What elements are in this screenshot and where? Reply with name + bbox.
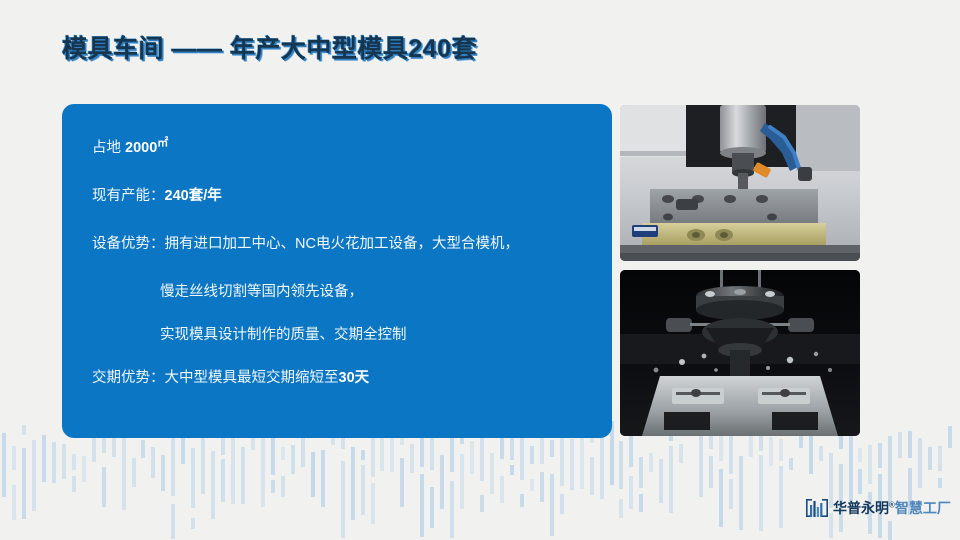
decorative-bar <box>629 431 633 467</box>
decorative-bar <box>918 438 922 488</box>
decorative-bar <box>510 465 514 475</box>
panel-line-area-prefix: 占地 <box>92 140 125 156</box>
bar-chart-logo-mark-icon <box>806 498 828 518</box>
decorative-bar <box>460 454 464 509</box>
panel-line-leadtime-prefix: 交期优势：大中型模具最短交期缩短至 <box>92 370 339 386</box>
decorative-bar <box>540 472 544 502</box>
decorative-bar <box>858 448 862 462</box>
page-title-text: 模具车间 —— 年产大中型模具240套 <box>62 29 477 65</box>
decorative-bar <box>400 458 404 507</box>
decorative-bar <box>560 494 564 514</box>
panel-line-capacity-value: 240套/年 <box>165 188 222 204</box>
decorative-bar <box>948 426 952 448</box>
decorative-bar <box>450 433 454 472</box>
decorative-bar <box>898 432 902 458</box>
brand-logo-text: 华普永明®智慧工厂 <box>833 501 951 515</box>
decorative-bar <box>301 433 305 467</box>
decorative-bar <box>42 435 46 482</box>
decorative-bar <box>151 447 155 478</box>
decorative-bar <box>639 494 643 512</box>
decorative-bar <box>540 437 544 464</box>
decorative-bar <box>500 476 504 503</box>
decorative-bar <box>550 474 554 536</box>
decorative-bar <box>321 450 325 507</box>
panel-line-equipment-cont2-text: 实现模具设计制作的质量、交期全控制 <box>160 327 407 343</box>
decorative-bar <box>231 431 235 504</box>
decorative-bar <box>590 457 594 495</box>
decorative-bar <box>171 504 175 539</box>
decorative-bar <box>72 476 76 492</box>
decorative-bar <box>809 430 813 474</box>
decorative-bar <box>52 442 56 483</box>
decorative-bar <box>380 434 384 471</box>
decorative-bar <box>390 435 394 472</box>
slide-canvas: 模具车间 —— 年产大中型模具240套 占地 2000㎡ 现有产能：240套/年… <box>0 0 960 540</box>
decorative-bar <box>789 458 793 470</box>
decorative-bar <box>709 456 713 488</box>
decorative-bar <box>191 448 195 508</box>
decorative-bar <box>22 448 26 519</box>
panel-line-area-value: 2000 <box>125 140 157 156</box>
decorative-bar <box>291 445 295 474</box>
decorative-bar <box>12 446 16 470</box>
decorative-bar <box>759 455 763 531</box>
photo-edm-spindle <box>620 270 860 436</box>
brand-logo: 华普永明®智慧工厂 <box>806 496 951 520</box>
decorative-bar <box>769 437 773 466</box>
decorative-bar <box>161 455 165 491</box>
decorative-bar-field <box>0 420 960 540</box>
panel-line-area: 占地 2000㎡ <box>92 138 586 159</box>
decorative-bar <box>102 467 106 507</box>
decorative-bar <box>619 441 623 489</box>
decorative-bar <box>819 446 823 461</box>
decorative-bar <box>430 487 434 528</box>
page-title: 模具车间 —— 年产大中型模具240套 <box>62 27 477 67</box>
panel-line-area-unit: ㎡ <box>157 137 168 149</box>
photo-edm-spindle-art <box>620 270 860 436</box>
decorative-bar <box>639 457 643 488</box>
decorative-bar <box>12 485 16 520</box>
decorative-bar <box>520 433 524 480</box>
decorative-bar <box>580 435 584 489</box>
decorative-bar <box>22 425 26 435</box>
decorative-bar <box>570 439 574 490</box>
decorative-bar <box>361 465 365 515</box>
decorative-bar <box>779 439 783 461</box>
decorative-bar <box>779 466 783 528</box>
panel-line-equipment: 设备优势：拥有进口加工中心、NC电火花加工设备，大型合模机， <box>92 234 586 255</box>
decorative-bar <box>490 453 494 494</box>
decorative-bar <box>530 479 534 491</box>
decorative-bar <box>729 479 733 509</box>
decorative-bar <box>849 428 853 501</box>
decorative-bar <box>928 447 932 470</box>
decorative-bar <box>271 480 275 493</box>
decorative-bar <box>908 431 912 458</box>
decorative-bar <box>520 494 524 507</box>
decorative-bar <box>938 478 942 488</box>
decorative-bar <box>679 444 683 463</box>
decorative-bar <box>410 444 414 473</box>
decorative-bar <box>560 430 564 486</box>
content-panel: 占地 2000㎡ 现有产能：240套/年 设备优势：拥有进口加工中心、NC电火花… <box>62 104 612 438</box>
decorative-bar <box>420 474 424 537</box>
decorative-bar <box>669 446 673 513</box>
decorative-bar <box>2 433 6 497</box>
decorative-bar <box>868 445 872 484</box>
decorative-bar <box>221 459 225 502</box>
decorative-bar <box>440 455 444 509</box>
decorative-bar <box>361 450 365 460</box>
decorative-bar <box>141 440 145 458</box>
decorative-bar <box>261 429 265 507</box>
panel-line-capacity-prefix: 现有产能： <box>92 188 165 204</box>
decorative-bar <box>649 453 653 472</box>
brand-logo-secondary: 智慧工厂 <box>895 500 951 516</box>
panel-line-leadtime: 交期优势：大中型模具最短交期缩短至30天 <box>92 368 586 389</box>
decorative-bar <box>281 447 285 460</box>
decorative-bar <box>749 434 753 457</box>
decorative-bar <box>480 495 484 512</box>
decorative-bar <box>241 447 245 504</box>
brand-logo-primary: 华普永明 <box>833 500 889 516</box>
decorative-bar <box>62 444 66 479</box>
decorative-bar <box>659 459 663 503</box>
decorative-bar <box>888 521 892 540</box>
decorative-bar <box>420 435 424 467</box>
decorative-bar <box>311 452 315 497</box>
decorative-bar <box>719 469 723 527</box>
decorative-bar <box>122 434 126 510</box>
decorative-bar <box>132 458 136 487</box>
decorative-bar <box>938 446 942 471</box>
panel-line-equipment-cont2: 实现模具设计制作的质量、交期全控制 <box>92 325 586 346</box>
photo-cnc-machining-center <box>620 105 860 261</box>
photo-cnc-machining-center-art <box>620 105 860 261</box>
panel-line-leadtime-value: 30天 <box>339 370 370 386</box>
decorative-bar <box>371 483 375 524</box>
decorative-bar <box>450 481 454 538</box>
panel-line-capacity: 现有产能：240套/年 <box>92 186 586 207</box>
decorative-bar <box>619 499 623 518</box>
decorative-bar <box>739 456 743 530</box>
decorative-bar <box>341 461 345 538</box>
decorative-bar <box>191 518 195 529</box>
panel-line-equipment-cont1: 慢走丝线切割等国内领先设备， <box>92 282 586 303</box>
decorative-bar <box>550 440 554 457</box>
decorative-bar <box>351 447 355 520</box>
decorative-bar <box>82 456 86 482</box>
decorative-bar <box>281 476 285 497</box>
panel-line-equipment-text: 设备优势：拥有进口加工中心、NC电火花加工设备，大型合模机， <box>92 236 519 252</box>
decorative-bar <box>371 435 375 477</box>
decorative-bar <box>32 440 36 511</box>
decorative-bar <box>211 451 215 519</box>
decorative-bar <box>629 476 633 509</box>
decorative-bar <box>530 446 534 464</box>
decorative-bar <box>470 441 474 474</box>
decorative-bar <box>600 431 604 499</box>
panel-line-equipment-cont1-text: 慢走丝线切割等国内领先设备， <box>160 284 363 300</box>
decorative-bar <box>72 454 76 470</box>
decorative-bar <box>858 469 862 494</box>
decorative-bar <box>878 443 882 468</box>
